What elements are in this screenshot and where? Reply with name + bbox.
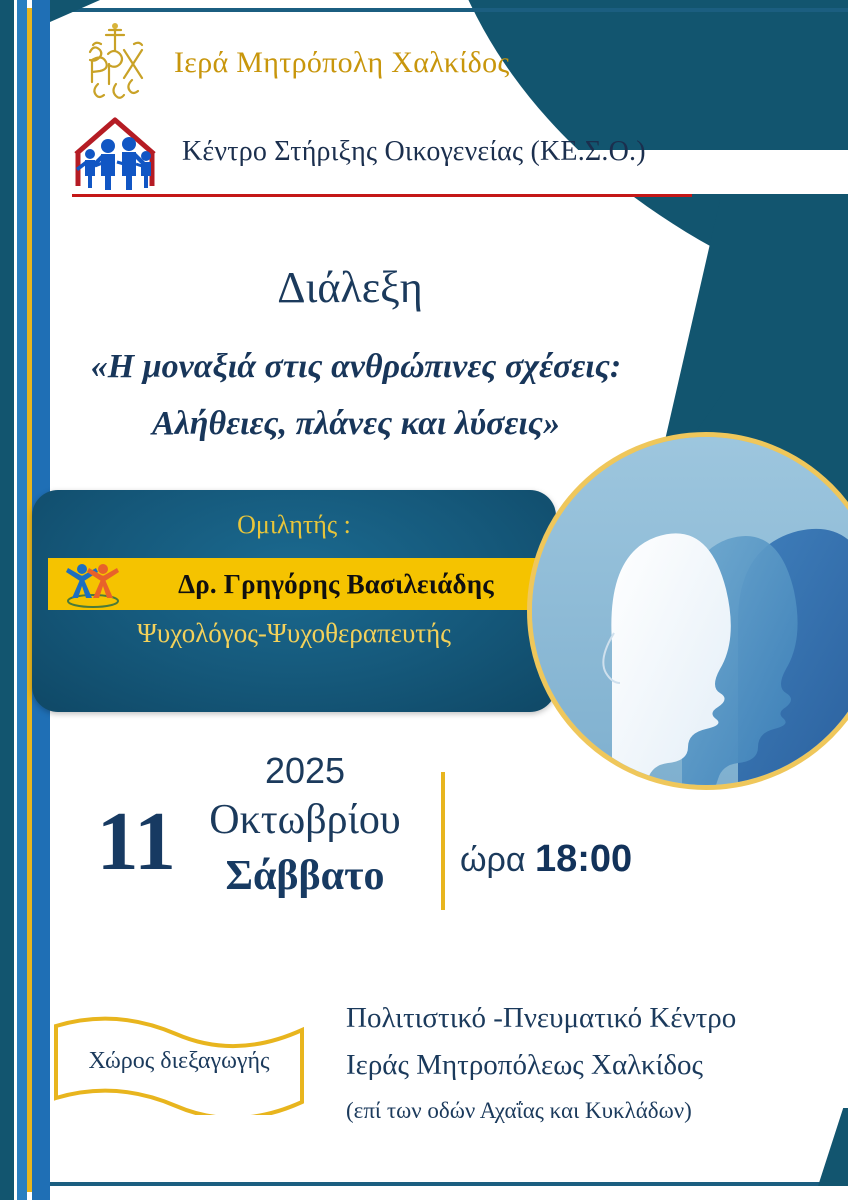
time-value: 18:00 xyxy=(535,838,632,880)
speaker-role: Ψυχολόγος-Ψυχοθεραπευτής xyxy=(32,618,556,649)
speaker-panel: Ομιλητής : xyxy=(32,490,556,712)
top-rule xyxy=(50,8,848,12)
venue-line-2: Ιεράς Μητροπόλεως Χαλκίδος xyxy=(346,1049,816,1082)
bottom-right-teal-wedge xyxy=(812,1108,848,1186)
speaker-name-band: Δρ. Γρηγόρης Βασιλειάδης xyxy=(48,558,556,610)
venue-line-3: (επί των οδών Αχαΐας και Κυκλάδων) xyxy=(346,1098,816,1124)
header-red-rule xyxy=(72,194,692,197)
keso-row: Κέντρο Στήριξης Οικογενείας (ΚΕ.Σ.Ο.) xyxy=(72,114,732,190)
bottom-rule xyxy=(50,1182,848,1186)
keso-title: Κέντρο Στήριξης Οικογενείας (ΚΕ.Σ.Ο.) xyxy=(182,136,646,168)
date-year: 2025 xyxy=(180,750,430,792)
lecture-kind: Διάλεξη xyxy=(0,262,700,313)
metropolis-title: Ιερά Μητρόπολη Χαλκίδος xyxy=(174,46,510,80)
left-blue-band-inner xyxy=(17,0,27,1200)
speaker-name: Δρ. Γρηγόρης Βασιλειάδης xyxy=(124,569,556,600)
family-house-icon xyxy=(72,114,158,190)
event-poster: Ιερά Μητρόπολη Χαλκίδος xyxy=(0,0,848,1200)
venue-address: Πολιτιστικό -Πνευματικό Κέντρο Ιεράς Μητ… xyxy=(346,1002,816,1124)
poster-header: Ιερά Μητρόπολη Χαλκίδος xyxy=(72,20,732,190)
venue-ribbon-label: Χώρος διεξαγωγής xyxy=(50,1048,308,1075)
date-month: Οκτωβρίου xyxy=(180,796,430,844)
left-teal-strip xyxy=(0,0,14,1200)
time-prefix: ώρα xyxy=(460,841,526,879)
three-head-profiles-image xyxy=(527,432,848,790)
date-time-divider xyxy=(441,772,445,910)
people-group-icon xyxy=(62,560,124,608)
metropolis-row: Ιερά Μητρόπολη Χαλκίδος xyxy=(72,20,732,106)
date-day: 11 xyxy=(36,800,176,884)
date-weekday: Σάββατο xyxy=(180,852,430,900)
speaker-label: Ομιλητής : xyxy=(32,510,556,540)
orthodox-monogram-icon xyxy=(72,20,158,106)
lecture-title-line1: «Η μοναξιά στις ανθρώπινες σχέσεις: xyxy=(0,348,712,386)
event-time: ώρα 18:00 xyxy=(460,838,760,881)
venue-line-1: Πολιτιστικό -Πνευματικό Κέντρο xyxy=(346,1002,816,1035)
lecture-title-line2: Αλήθειες, πλάνες και λύσεις» xyxy=(0,405,712,443)
